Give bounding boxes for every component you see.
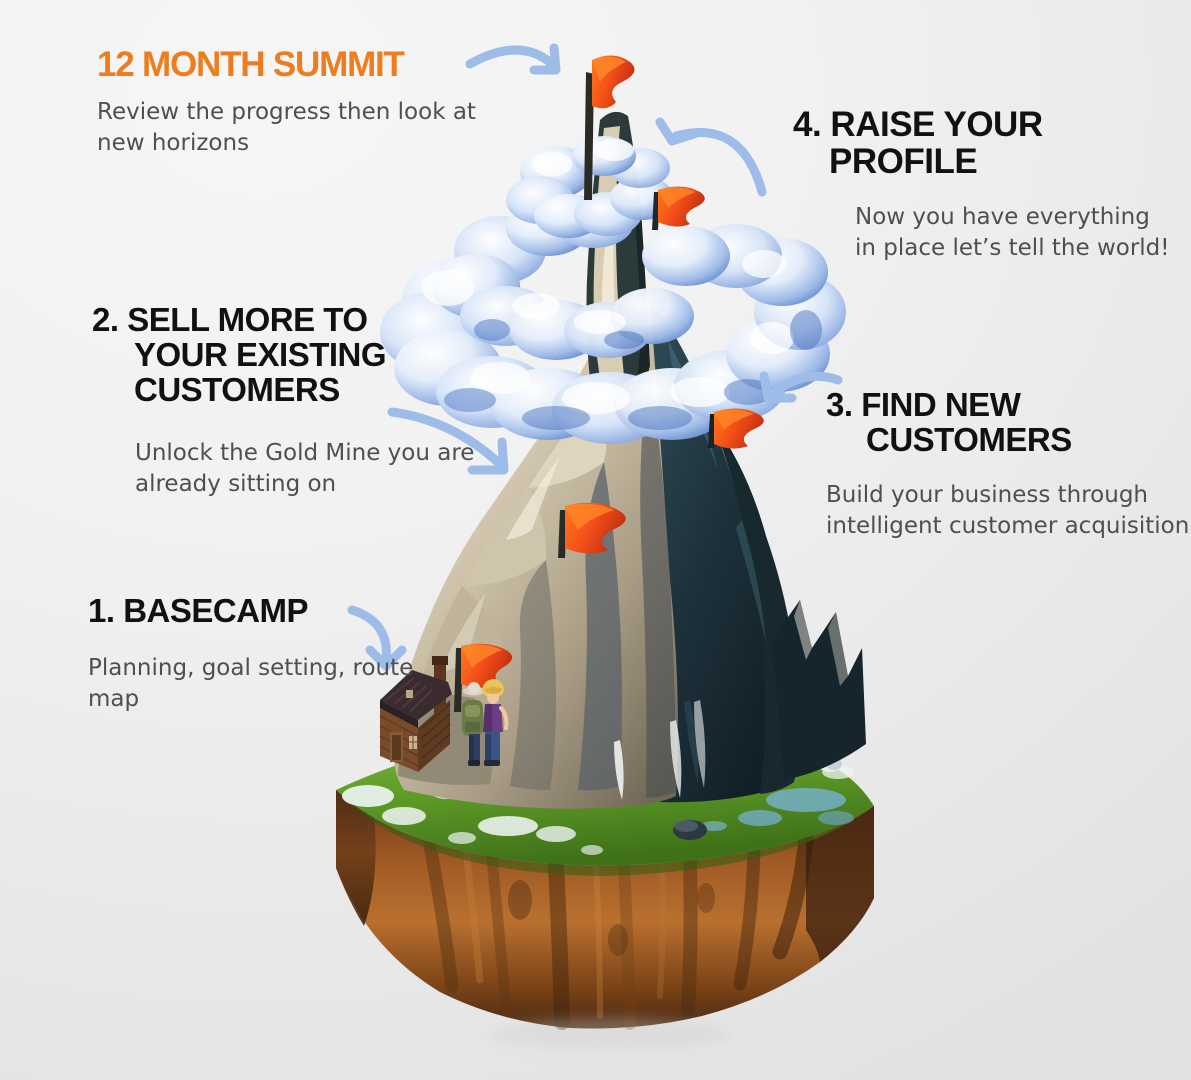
block-step-1: 1. BASECAMP Planning, goal setting, rout… [88, 594, 418, 715]
block-12-month-summit: 12 MONTH SUMMIT Review the progress then… [97, 46, 497, 159]
step4-heading-line2: PROFILE [793, 143, 1173, 180]
step4-body: Now you have everything in place let’s t… [793, 202, 1173, 264]
infographic-canvas: 12 MONTH SUMMIT Review the progress then… [0, 0, 1191, 1080]
step2-body: Unlock the Gold Mine you are already sit… [92, 438, 487, 500]
block-step-4: 4. RAISE YOURPROFILE Now you have everyt… [793, 106, 1173, 264]
step4-heading-line1: 4. RAISE YOUR [793, 105, 1043, 144]
block-step-2: 2. SELL MORE TOYOUR EXISTINGCUSTOMERS Un… [92, 303, 487, 500]
summit-heading: 12 MONTH SUMMIT [97, 46, 497, 83]
step2-heading-line3: CUSTOMERS [92, 373, 487, 408]
step3-heading-line2: CUSTOMERS [826, 423, 1191, 458]
step3-body: Build your business through intelligent … [826, 480, 1191, 542]
step3-heading-line1: 3. FIND NEW [826, 386, 1020, 423]
step1-heading: 1. BASECAMP [88, 594, 418, 629]
block-step-3: 3. FIND NEWCUSTOMERS Build your business… [826, 388, 1191, 542]
step4-heading: 4. RAISE YOURPROFILE [793, 106, 1173, 180]
step1-body: Planning, goal setting, route map [88, 653, 418, 715]
step2-heading: 2. SELL MORE TOYOUR EXISTINGCUSTOMERS [92, 303, 487, 408]
step3-heading: 3. FIND NEWCUSTOMERS [826, 388, 1191, 458]
arrow-step4 [660, 122, 762, 192]
step2-heading-line1: 2. SELL MORE TO [92, 301, 368, 338]
step2-heading-line2: YOUR EXISTING [92, 338, 487, 373]
summit-body: Review the progress then look at new hor… [97, 97, 497, 159]
